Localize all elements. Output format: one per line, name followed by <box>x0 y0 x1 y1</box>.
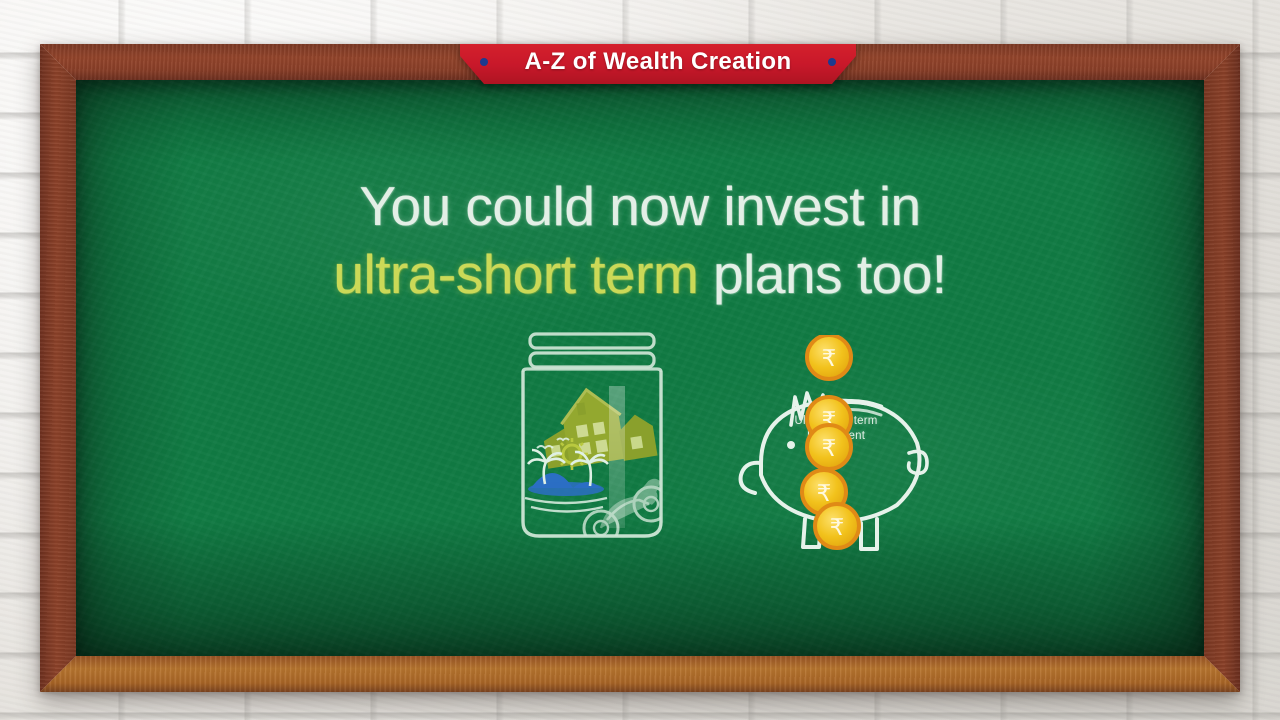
coin-stack: ₹ ₹ ₹ ₹ ₹ <box>721 335 951 575</box>
headline-highlight: ultra-short term <box>333 243 698 305</box>
svg-text:₹: ₹ <box>830 515 845 541</box>
headline-rest: plans too! <box>698 243 946 305</box>
jar-contents <box>525 380 668 545</box>
coin-3: ₹ <box>807 425 851 469</box>
svg-text:₹: ₹ <box>822 436 837 462</box>
frame-rail-left <box>40 44 76 692</box>
savings-jar-illustration <box>497 326 687 546</box>
coin-stack-svg: ₹ ₹ ₹ ₹ ₹ <box>721 335 951 575</box>
savings-jar-svg <box>497 326 687 546</box>
headline-line-1: You could now invest in <box>76 172 1204 240</box>
frame-rail-right <box>1204 44 1240 692</box>
headline-line-2: ultra-short term plans too! <box>76 240 1204 308</box>
ribbon-title: A-Z of Wealth Creation <box>460 44 856 84</box>
jar-lid <box>530 334 654 367</box>
frame-rail-bottom-chalk-ledge <box>40 656 1240 692</box>
headline-block: You could now invest in ultra-short term… <box>76 172 1204 308</box>
chalkboard-frame: You could now invest in ultra-short term… <box>40 44 1240 692</box>
chalkboard-scene: You could now invest in ultra-short term… <box>0 0 1280 720</box>
chalkboard-surface: You could now invest in ultra-short term… <box>76 80 1204 656</box>
svg-text:₹: ₹ <box>822 346 837 372</box>
svg-text:₹: ₹ <box>817 481 832 507</box>
jar-neck <box>523 369 661 372</box>
title-ribbon: A-Z of Wealth Creation <box>460 44 856 84</box>
coin-1: ₹ <box>807 335 851 379</box>
jar-gloss-highlight <box>609 386 625 528</box>
coin-5: ₹ <box>815 504 859 548</box>
